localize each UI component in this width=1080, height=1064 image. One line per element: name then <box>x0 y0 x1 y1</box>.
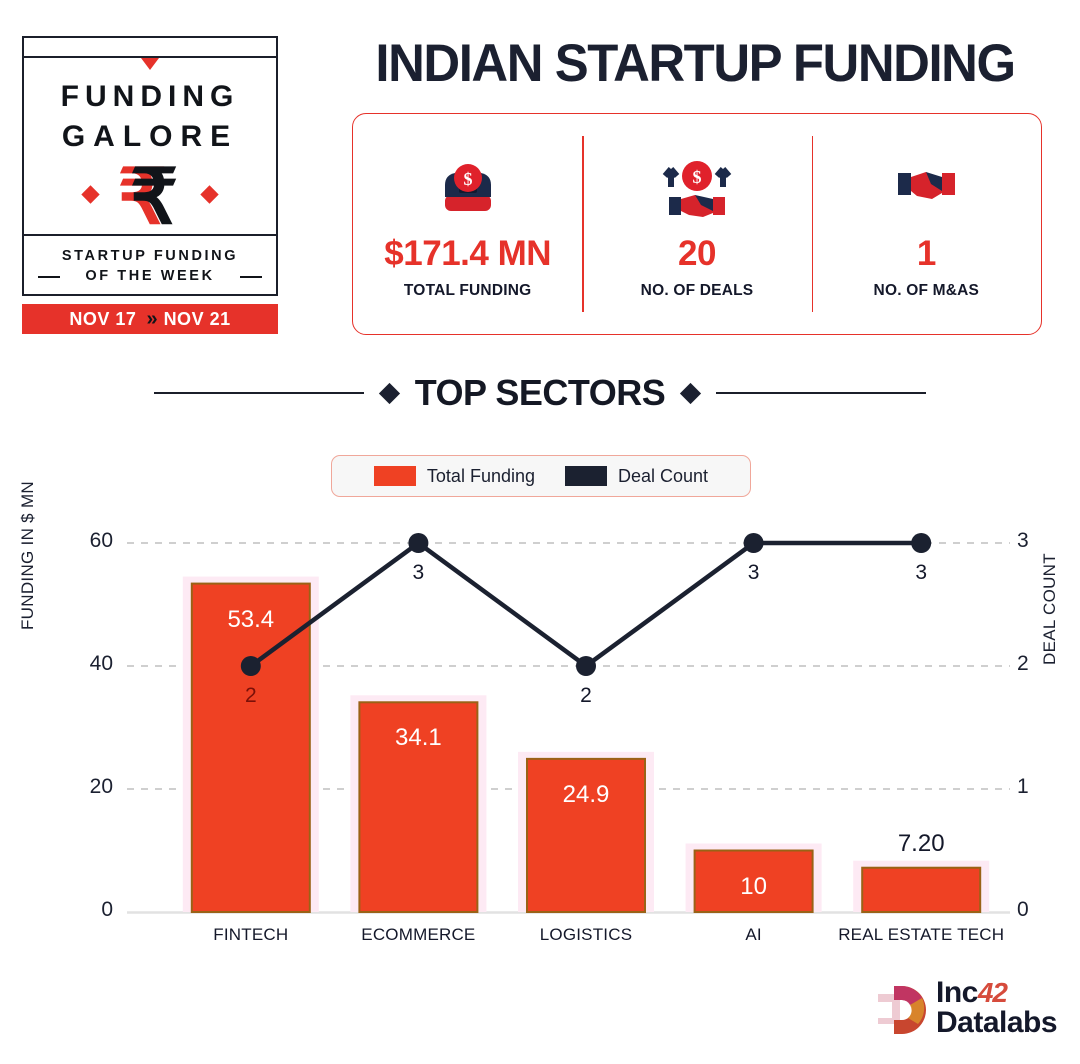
bar-value-label: 10 <box>664 873 844 901</box>
x-axis-category-label: REAL ESTATE TECH <box>801 925 1041 945</box>
section-title: TOP SECTORS <box>415 372 666 414</box>
logo-title-line2: GALORE <box>24 120 276 154</box>
brand-second-line: Datalabs <box>936 1006 1057 1040</box>
stat-value: $171.4 MN <box>384 234 551 274</box>
top-sectors-heading: TOP SECTORS <box>0 372 1080 414</box>
line-value-label: 2 <box>191 684 311 708</box>
deal-growth-icon: $ <box>655 154 739 226</box>
logo-title-line1: FUNDING <box>24 80 276 114</box>
svg-text:$: $ <box>692 167 701 187</box>
stat-no-of-mas: 1 NO. OF M&AS <box>812 114 1041 334</box>
legend-item-total-funding: Total Funding <box>374 466 535 487</box>
line-path <box>251 543 921 666</box>
line-series <box>241 533 931 676</box>
infographic-root: FUNDING GALORE ₹ ₹ STARTUP FUNDING OF TH… <box>0 0 1080 1064</box>
stat-label: TOTAL FUNDING <box>404 282 531 300</box>
triangle-icon <box>141 58 159 70</box>
rupee-icon-black: ₹ <box>130 158 178 238</box>
line-marker <box>744 533 764 553</box>
legend-swatch-icon <box>374 466 416 486</box>
chevron-right-icon: » <box>146 308 153 331</box>
summary-stats-card: $ $171.4 MN TOTAL FUNDING $ 20 <box>352 113 1042 335</box>
stat-label: NO. OF M&AS <box>874 282 980 300</box>
y-axis-tick: 20 <box>68 775 113 799</box>
inc42-datalabs-logo: Inc42 Datalabs <box>876 976 1066 1050</box>
legend-label: Deal Count <box>618 466 708 487</box>
inc42-mark-icon <box>876 980 934 1042</box>
diamond-icon-left <box>379 382 400 403</box>
line-value-label: 3 <box>358 561 478 585</box>
y-axis-title: FUNDING IN $ MN <box>18 470 38 630</box>
divider-left <box>154 392 364 394</box>
bar-value-label: 24.9 <box>496 781 676 809</box>
legend-item-deal-count: Deal Count <box>565 466 708 487</box>
funding-galore-logo-card: FUNDING GALORE ₹ ₹ STARTUP FUNDING OF TH… <box>22 36 278 296</box>
y2-axis-tick: 0 <box>1017 898 1029 922</box>
y2-axis-title: DEAL COUNT <box>1040 505 1060 665</box>
y-axis-tick: 40 <box>68 652 113 676</box>
stat-label: NO. OF DEALS <box>641 282 754 300</box>
line-marker <box>241 656 261 676</box>
bar-value-label: 53.4 <box>161 606 341 634</box>
money-box-icon: $ <box>435 154 501 226</box>
logo-divider-bottom <box>24 234 276 236</box>
line-marker <box>576 656 596 676</box>
bar-value-label: 34.1 <box>328 724 508 752</box>
chart-legend: Total Funding Deal Count <box>331 455 751 497</box>
divider-right <box>716 392 926 394</box>
brand-number: 42 <box>978 977 1007 1008</box>
stat-value: 1 <box>917 234 936 274</box>
brand-prefix: Inc <box>936 976 978 1009</box>
bar <box>862 868 980 912</box>
page-title: INDIAN STARTUP FUNDING <box>364 33 1026 94</box>
legend-swatch-icon <box>565 466 607 486</box>
y-axis-tick: 60 <box>68 529 113 553</box>
rupee-mark: ₹ ₹ <box>24 158 276 238</box>
line-marker <box>408 533 428 553</box>
logo-subtitle-line2: OF THE WEEK <box>24 266 276 286</box>
line-marker <box>911 533 931 553</box>
diamond-icon-right <box>680 382 701 403</box>
line-value-label: 3 <box>861 561 981 585</box>
stat-total-funding: $ $171.4 MN TOTAL FUNDING <box>353 114 582 334</box>
date-range-badge: NOV 17 » NOV 21 <box>22 304 278 334</box>
handshake-icon <box>884 154 968 226</box>
date-to: NOV 21 <box>164 309 231 330</box>
stat-value: 20 <box>678 234 716 274</box>
bar-glow <box>518 752 654 912</box>
line-value-label: 2 <box>526 684 646 708</box>
inc42-line1: Inc42 <box>936 976 1057 1010</box>
logo-subtitle: STARTUP FUNDING OF THE WEEK <box>24 246 276 286</box>
y2-axis-tick: 2 <box>1017 652 1029 676</box>
inc42-wordmark: Inc42 Datalabs <box>936 976 1057 1040</box>
logo-subtitle-line1: STARTUP FUNDING <box>62 248 238 264</box>
stat-no-of-deals: $ 20 NO. OF DEALS <box>582 114 811 334</box>
y2-axis-tick: 3 <box>1017 529 1029 553</box>
date-from: NOV 17 <box>69 309 136 330</box>
bar-glow <box>853 861 989 912</box>
legend-label: Total Funding <box>427 466 535 487</box>
y-axis-tick: 0 <box>68 898 113 922</box>
line-value-label: 3 <box>694 561 814 585</box>
y2-axis-tick: 1 <box>1017 775 1029 799</box>
svg-text:$: $ <box>463 169 472 189</box>
bar-value-label: 7.20 <box>831 830 1011 858</box>
